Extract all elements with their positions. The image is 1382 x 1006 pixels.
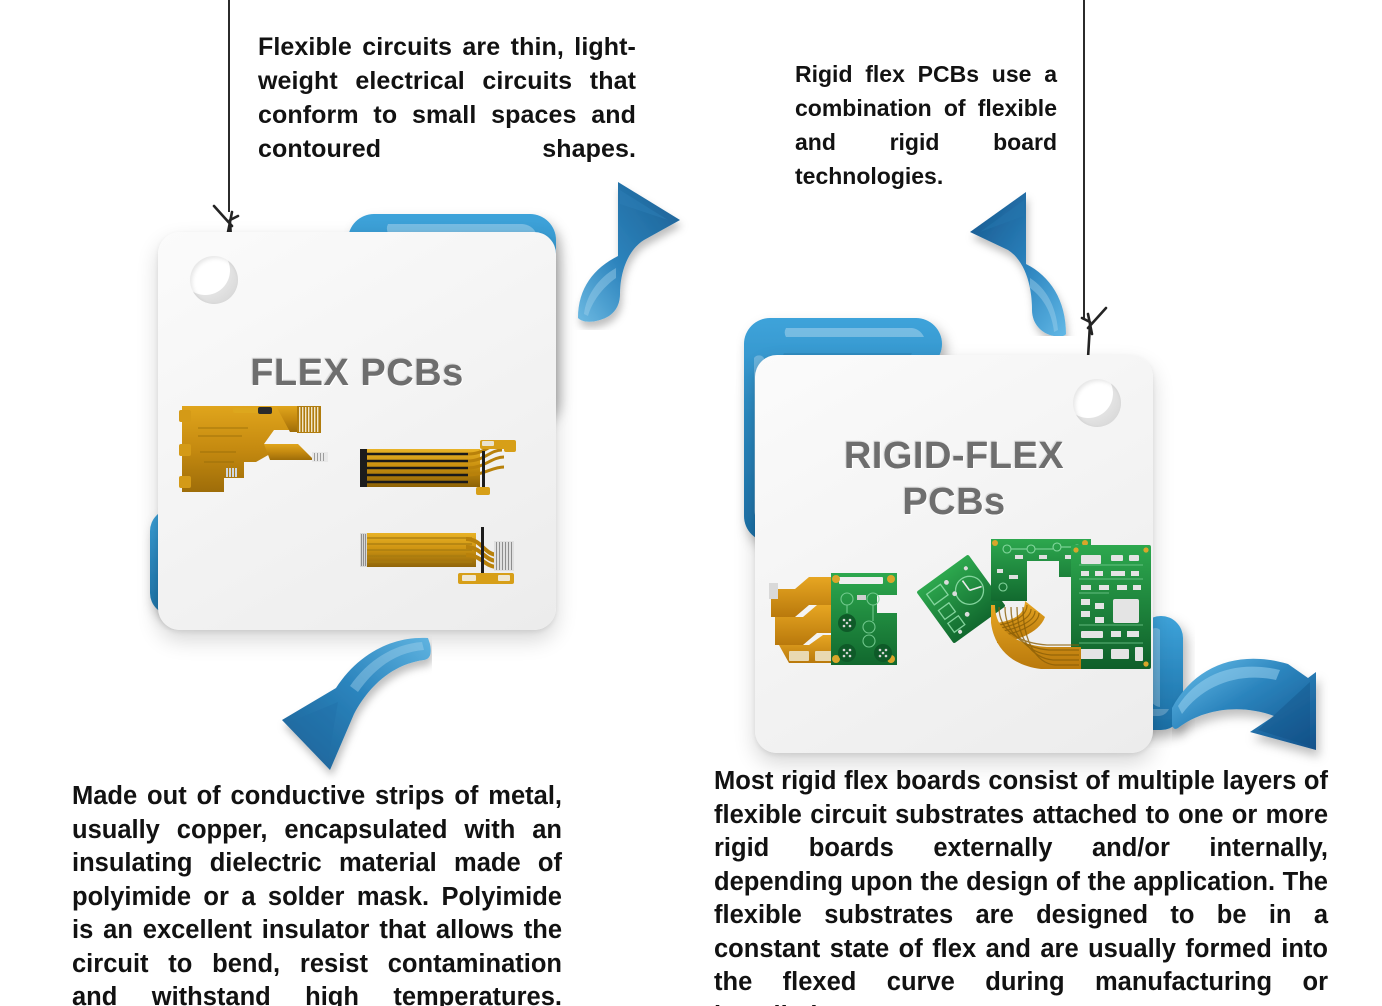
- flex-pcb-image-ribbon-lower: [358, 525, 518, 587]
- hanging-string-left: [228, 0, 230, 212]
- rigid-flex-image-left: [769, 555, 929, 671]
- card-title-rigid-line2: PCBs: [755, 479, 1153, 525]
- flex-pcb-image-ribbon-upper: [358, 437, 518, 499]
- card-rigid-flex-pcbs[interactable]: RIGID-FLEX PCBs: [755, 355, 1153, 753]
- hanging-string-right: [1083, 0, 1085, 320]
- callout-top-right: Rigid flex PCBs use a combination of fle…: [795, 57, 1057, 193]
- hanging-hole-icon: [1073, 379, 1121, 427]
- hanging-hole-icon: [190, 256, 238, 304]
- callout-bottom-left: Made out of conductive strips of metal, …: [72, 780, 562, 1006]
- callout-top-left: Flexible circuits are thin, light-weight…: [258, 30, 636, 166]
- infographic-page: FLEX PCBs: [0, 0, 1382, 1006]
- arrow-flex-to-top-text: [570, 168, 706, 330]
- card-title-rigid-line1: RIGID-FLEX: [755, 433, 1153, 479]
- arrow-rigid-to-bottom-text: [1172, 642, 1354, 772]
- rigid-flex-image-flex-ribbon-right: [991, 595, 1087, 673]
- card-title-rigid: RIGID-FLEX PCBs: [755, 433, 1153, 525]
- arrow-rigid-to-top-text: [962, 184, 1078, 336]
- arrow-flex-to-bottom-text: [272, 632, 432, 780]
- card-title-flex: FLEX PCBs: [158, 350, 556, 396]
- callout-bottom-right: Most rigid flex boards consist of multip…: [714, 765, 1328, 1006]
- flex-pcb-image-large: [178, 400, 343, 505]
- card-flex-pcbs[interactable]: FLEX PCBs: [158, 232, 556, 630]
